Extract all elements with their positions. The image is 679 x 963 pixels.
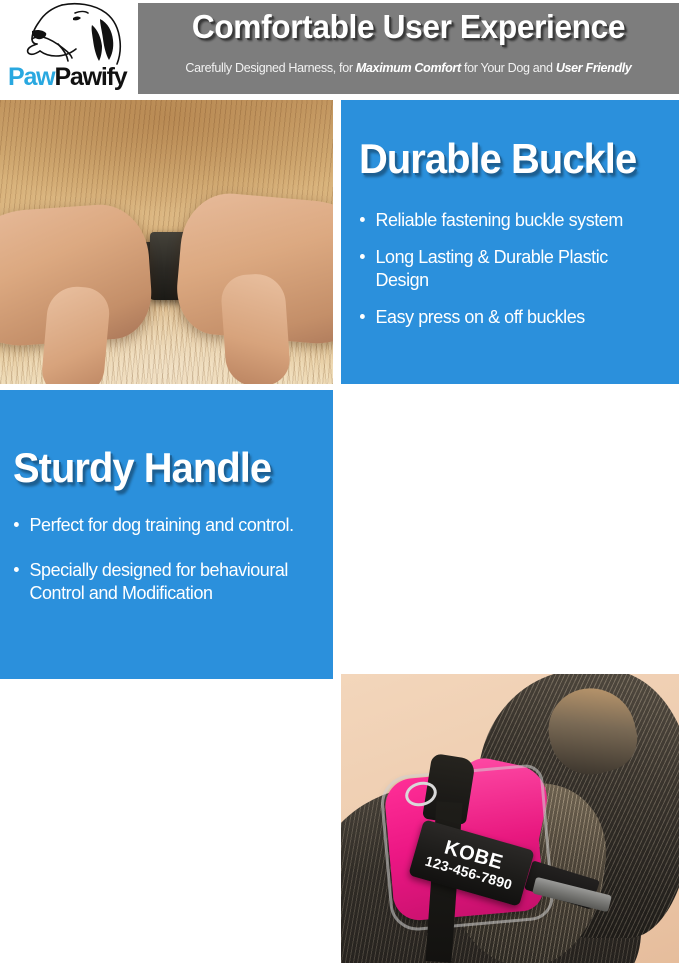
subtitle-emphasis-2: User Friendly [556,60,632,75]
brand-wordmark: PawPawify [8,62,134,92]
hand-right-fingers [220,272,292,384]
hand-left [0,202,154,350]
brand-name-part1: Paw [8,63,54,91]
feature-grid: Durable Buckle Reliable fastening buckle… [0,100,679,679]
page-subtitle: Carefully Designed Harness, for Maximum … [152,60,666,75]
hand-left-fingers [40,284,111,384]
list-item: Easy press on & off buckles [359,305,658,328]
durable-buckle-heading: Durable Buckle [359,136,652,182]
brand-logo: PawPawify [0,0,138,97]
subtitle-text-1: Carefully Designed Harness, for [185,60,355,75]
sturdy-handle-heading: Sturdy Handle [13,445,312,491]
hand-right [173,190,333,349]
subtitle-text-2: for Your Dog and [461,60,556,75]
durable-buckle-bullets: Reliable fastening buckle system Long La… [359,208,667,328]
sturdy-handle-bullets: Perfect for dog training and control. Sp… [13,513,328,604]
feature-durable-buckle: Durable Buckle Reliable fastening buckle… [341,100,679,384]
brand-name-part2: Pawify [54,63,126,91]
list-item: Long Lasting & Durable Plastic Design [359,245,658,291]
list-item: Reliable fastening buckle system [359,208,658,231]
page-title: Comfortable User Experience [149,8,668,46]
page-header: PawPawify Comfortable User Experience Ca… [0,0,679,97]
list-item: Specially designed for behavioural Contr… [13,558,319,604]
dog-head-icon [18,1,136,65]
subtitle-emphasis-1: Maximum Comfort [356,60,461,75]
header-banner: Comfortable User Experience Carefully De… [138,3,679,94]
list-item: Perfect for dog training and control. [13,513,319,536]
harness-photo: KOBE 123-456-7890 [341,674,679,963]
feature-sturdy-handle: Sturdy Handle Perfect for dog training a… [0,390,333,679]
buckle-photo [0,100,333,384]
